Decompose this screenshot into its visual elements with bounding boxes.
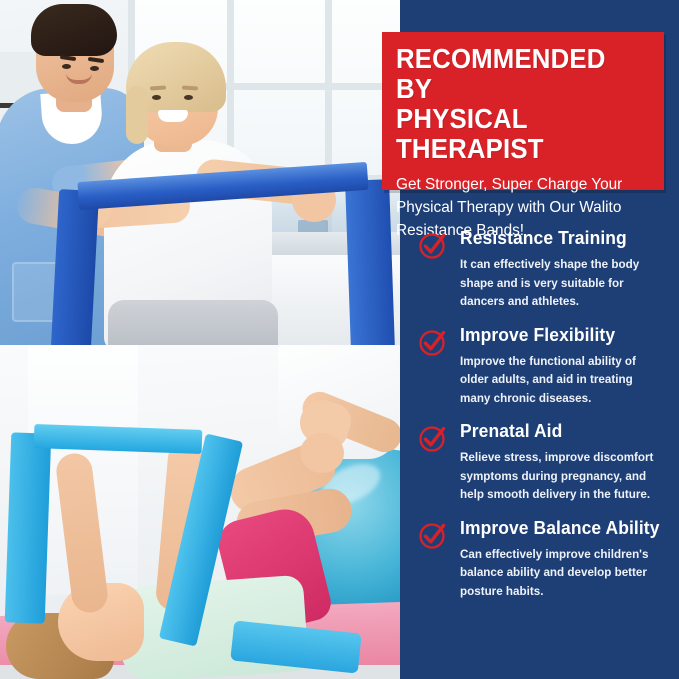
feature-item: Prenatal Aid Relieve stress, improve dis… xyxy=(418,421,670,504)
feature-title: Prenatal Aid xyxy=(460,421,664,442)
therapist-assisting-senior-woman-photo xyxy=(0,0,400,345)
feature-item: Improve Balance Ability Can effectively … xyxy=(418,518,670,601)
recommended-banner: RECOMMENDED BY PHYSICAL THERAPIST Get St… xyxy=(382,32,664,190)
resistance-band xyxy=(5,432,52,623)
therapist-hair xyxy=(31,4,117,56)
feature-title: Improve Balance Ability xyxy=(460,518,664,539)
feature-description: It can effectively shape the body shape … xyxy=(460,255,664,311)
feature-item: Improve Flexibility Improve the function… xyxy=(418,325,670,408)
check-circle-icon xyxy=(418,327,448,357)
patient-pants xyxy=(108,300,278,345)
feature-list: Resistance Training It can effectively s… xyxy=(418,228,670,600)
patient-smile xyxy=(158,110,188,122)
patient-hair xyxy=(126,86,148,144)
feature-description: Can effectively improve children's balan… xyxy=(460,545,664,601)
feature-description: Improve the functional ability of older … xyxy=(460,352,664,408)
therapist-hand xyxy=(300,433,344,473)
woman-exercising-on-ball-photo xyxy=(0,345,400,679)
feature-description: Relieve stress, improve discomfort sympt… xyxy=(460,448,664,504)
feature-title: Improve Flexibility xyxy=(460,325,664,346)
resistance-band xyxy=(51,189,99,345)
feature-title: Resistance Training xyxy=(460,228,664,249)
feature-text: Improve Balance Ability Can effectively … xyxy=(460,518,670,601)
check-circle-icon xyxy=(418,520,448,550)
check-circle-icon xyxy=(418,230,448,260)
feature-item: Resistance Training It can effectively s… xyxy=(418,228,670,311)
banner-headline: RECOMMENDED BY PHYSICAL THERAPIST xyxy=(396,44,628,164)
headline-line-1: RECOMMENDED BY xyxy=(396,44,628,104)
feature-text: Improve Flexibility Improve the function… xyxy=(460,325,670,408)
feature-text: Prenatal Aid Relieve stress, improve dis… xyxy=(460,421,670,504)
photo-column xyxy=(0,0,400,679)
headline-line-2: PHYSICAL THERAPIST xyxy=(396,104,628,164)
resistance-band xyxy=(345,179,395,345)
feature-text: Resistance Training It can effectively s… xyxy=(460,228,670,311)
product-infographic: RECOMMENDED BY PHYSICAL THERAPIST Get St… xyxy=(0,0,679,679)
check-circle-icon xyxy=(418,423,448,453)
